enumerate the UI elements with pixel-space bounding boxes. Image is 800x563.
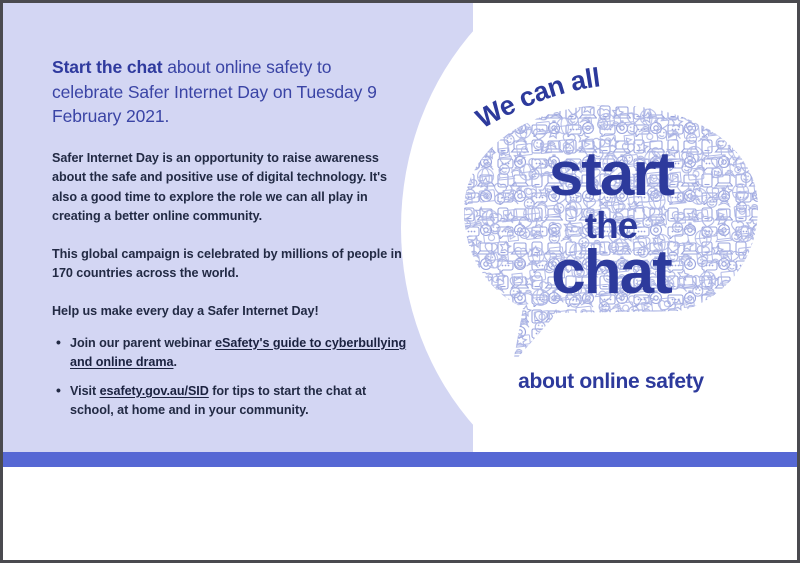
paragraph-1: Safer Internet Day is an opportunity to … xyxy=(52,149,407,227)
bullet-tail-text: . xyxy=(173,355,176,369)
page-title: Start the chat about online safety to ce… xyxy=(52,55,407,129)
action-list: Join our parent webinar eSafety's guide … xyxy=(52,334,407,421)
speech-bubble-artwork: We can all xyxy=(451,65,771,425)
artwork-tagline: about online safety xyxy=(451,370,771,394)
list-item: Visit esafety.gov.au/SID for tips to sta… xyxy=(52,382,407,421)
footer-section: Australian Government eSafetyCommissione… xyxy=(3,467,797,560)
list-item: Join our parent webinar eSafety's guide … xyxy=(52,334,407,373)
bubble-word-chat: chat xyxy=(551,238,672,307)
headline-bold: Start the chat xyxy=(52,57,162,77)
bubble-word-start: start xyxy=(549,140,675,209)
bullet-lead-text: Visit xyxy=(70,384,100,398)
paragraph-3: Help us make every day a Safer Internet … xyxy=(52,302,407,322)
paragraph-2: This global campaign is celebrated by mi… xyxy=(52,245,407,284)
bullet-lead-text: Join our parent webinar xyxy=(70,336,215,350)
copy-block: Start the chat about online safety to ce… xyxy=(52,55,407,430)
safer-internet-day-poster: Start the chat about online safety to ce… xyxy=(0,0,800,563)
doodle-speech-bubble: start the chat xyxy=(461,103,761,365)
divider-bar xyxy=(3,452,797,467)
sid-site-link[interactable]: esafety.gov.au/SID xyxy=(100,384,209,398)
